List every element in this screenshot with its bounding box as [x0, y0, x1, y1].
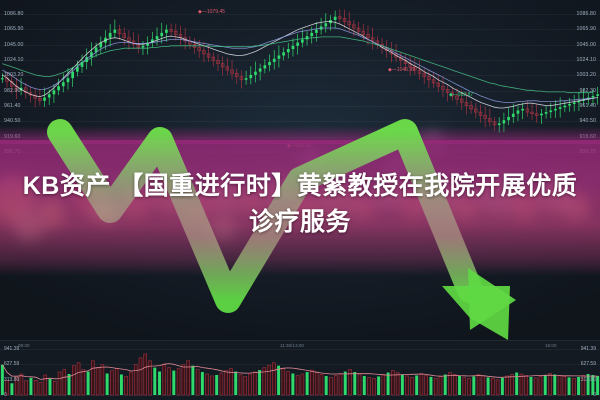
volume-bar	[87, 372, 90, 395]
volume-bar	[77, 363, 80, 395]
candle-body	[296, 43, 299, 46]
volume-axis-tick: 0	[4, 392, 7, 398]
volume-bar	[120, 374, 123, 395]
candle-body	[310, 33, 313, 36]
volume-bar	[453, 374, 456, 395]
volume-bar	[596, 376, 599, 395]
volume-bar	[372, 378, 375, 395]
volume-bar	[491, 378, 494, 395]
price-axis-tick: 1065.90	[577, 26, 596, 32]
volume-axis-tick: 627.59	[4, 361, 19, 367]
volume-bar	[444, 374, 447, 395]
candle-body	[71, 72, 74, 78]
volume-bar	[96, 368, 99, 395]
volume-bar	[258, 370, 261, 395]
volume-bar	[129, 372, 132, 395]
volume-bar	[577, 377, 580, 395]
volume-bar	[477, 374, 480, 395]
volume-bar	[339, 373, 342, 395]
volume-axis-tick: 941.39	[4, 346, 19, 352]
volume-bar	[382, 374, 385, 395]
volume-bar	[472, 376, 475, 395]
volume-axis-tick: 0	[593, 392, 596, 398]
volume-bar	[158, 372, 161, 395]
volume-bar	[496, 380, 499, 395]
volume-bar	[329, 377, 332, 395]
volume-bar	[125, 376, 128, 395]
volume-bar	[282, 369, 285, 395]
volume-bar	[515, 373, 518, 395]
volume-bar	[249, 374, 252, 395]
volume-bar	[301, 374, 304, 395]
volume-bar	[482, 376, 485, 395]
candle-body	[245, 78, 248, 80]
candle-body	[278, 56, 281, 59]
volume-bar	[82, 370, 85, 395]
page-title: KB资产 【国重进行时】黄絮教授在我院开展优质 诊疗服务	[0, 168, 600, 240]
candle-body	[43, 98, 46, 101]
volume-bar	[225, 371, 228, 395]
volume-bar	[572, 378, 575, 395]
price-axis-tick: 1065.90	[4, 26, 23, 32]
volume-axis-tick: 627.59	[581, 361, 596, 367]
volume-bar	[358, 374, 361, 395]
volume-bar	[553, 374, 556, 395]
volume-bar	[510, 374, 513, 395]
volume-bar	[420, 373, 423, 395]
candle-body	[67, 78, 70, 82]
candle-body	[48, 94, 51, 97]
candle-body	[512, 114, 515, 117]
volume-bar	[539, 376, 542, 395]
candle-body	[57, 86, 60, 90]
volume-bar	[425, 375, 428, 395]
price-axis-tick: 1086.80	[577, 11, 596, 17]
volume-bar	[20, 374, 23, 395]
volume-bar	[387, 373, 390, 395]
candle-body	[540, 114, 543, 116]
candle-body	[324, 23, 327, 26]
volume-bar	[306, 372, 309, 395]
volume-bar	[110, 371, 113, 395]
price-axis-tick: 961.40	[4, 103, 20, 109]
volume-bar	[396, 373, 399, 395]
candle-body	[62, 82, 65, 86]
volume-bar	[177, 369, 180, 395]
volume-bar	[191, 366, 194, 395]
volume-bar	[196, 370, 199, 395]
candle-body	[287, 49, 290, 52]
volume-bar	[10, 383, 13, 395]
volume-bar	[368, 377, 371, 395]
volume-bar	[520, 374, 523, 395]
candle-body	[563, 106, 566, 108]
volume-bar	[187, 361, 190, 395]
price-axis-tick: 1045.00	[4, 42, 23, 48]
volume-bar	[434, 378, 437, 395]
candle-body	[109, 33, 112, 38]
volume-bar	[153, 368, 156, 395]
price-axis-tick: 982.30	[580, 88, 596, 94]
volume-bar	[439, 376, 442, 395]
candle-body	[273, 59, 276, 62]
price-axis-tick: 1086.80	[4, 11, 23, 17]
volume-bar	[501, 378, 504, 395]
volume-bar	[558, 375, 561, 395]
time-axis-tick: 15:00	[545, 343, 557, 348]
volume-bar	[325, 376, 328, 395]
volume-bar	[29, 378, 32, 395]
volume-bar	[310, 370, 313, 395]
candle-body	[263, 65, 266, 68]
volume-bar	[534, 378, 537, 395]
time-axis-tick: 11:30/13:00	[280, 343, 304, 348]
volume-bar	[253, 372, 256, 395]
volume-bar	[182, 365, 185, 395]
volume-bar	[549, 373, 552, 395]
volume-bar	[525, 375, 528, 395]
volume-bar	[144, 354, 147, 395]
volume-bar	[458, 376, 461, 395]
volume-bar	[353, 372, 356, 395]
price-axis-tick: 1024.10	[577, 57, 596, 63]
volume-bar	[58, 372, 61, 395]
candle-body	[249, 75, 252, 78]
volume-bar	[215, 375, 218, 395]
volume-bar	[201, 372, 204, 395]
volume-bar	[106, 373, 109, 395]
candle-body	[517, 110, 520, 113]
price-axis-tick: 1045.00	[577, 42, 596, 48]
volume-bar	[49, 379, 52, 395]
price-axis-tick: 961.40	[580, 103, 596, 109]
volume-bar	[268, 365, 271, 395]
volume-bar	[91, 361, 94, 395]
candle-body	[573, 102, 576, 104]
candle-body	[282, 52, 285, 55]
volume-bar	[277, 366, 280, 395]
volume-bar	[320, 374, 323, 395]
article-banner: 1086.801065.901045.001024.101003.20982.3…	[0, 0, 600, 400]
candle-body	[568, 104, 571, 106]
candle-body	[559, 107, 562, 109]
candle-body	[554, 109, 557, 111]
volume-bar	[72, 366, 75, 395]
volume-bar	[296, 375, 299, 395]
price-annotation: ◆—1046.99	[388, 67, 415, 73]
volume-bar	[134, 365, 137, 395]
volume-bar	[239, 374, 242, 395]
candle-body	[142, 46, 145, 48]
price-annotation: ◆—1079.45	[198, 9, 225, 15]
candle-body	[315, 30, 318, 33]
volume-bar	[210, 376, 213, 395]
volume-bars	[0, 341, 600, 400]
volume-bar	[487, 377, 490, 395]
volume-bar	[568, 377, 571, 395]
volume-bar	[234, 372, 237, 395]
headline-line-1: KB资产 【国重进行时】黄絮教授在我院开展优质	[23, 172, 578, 200]
volume-bar	[272, 363, 275, 395]
candle-body	[53, 90, 56, 94]
candle-body	[254, 72, 257, 75]
volume-bar	[415, 375, 418, 395]
volume-bar	[410, 377, 413, 395]
volume-bar	[463, 377, 466, 395]
volume-bar	[101, 365, 104, 395]
volume-bar	[115, 369, 118, 395]
candle-body	[301, 39, 304, 42]
candle-body	[160, 33, 163, 36]
volume-bar	[334, 375, 337, 395]
candle-body	[165, 30, 168, 33]
volume-bar	[401, 374, 404, 395]
price-axis-tick: 982.30	[4, 88, 20, 94]
candle-body	[259, 68, 262, 71]
candle-body	[156, 36, 159, 39]
volume-bar	[139, 358, 142, 395]
candle-body	[113, 30, 116, 33]
volume-bar	[315, 373, 318, 395]
volume-bar	[168, 368, 171, 395]
volume-bar	[244, 376, 247, 395]
volume-bar	[53, 381, 56, 395]
volume-bar	[44, 375, 47, 395]
candle-body	[549, 110, 552, 112]
price-axis-tick: 1024.10	[4, 57, 23, 63]
volume-bar	[172, 371, 175, 395]
volume-bar	[363, 376, 366, 395]
time-axis-tick: 09:30	[18, 343, 30, 348]
volume-bar	[39, 382, 42, 395]
volume-bar	[563, 376, 566, 395]
candle-body	[268, 62, 271, 65]
volume-bar	[34, 380, 37, 395]
volume-bar	[406, 376, 409, 395]
candle-body	[545, 112, 548, 114]
headline-line-2: 诊疗服务	[0, 204, 600, 240]
candle-body	[596, 94, 599, 96]
volume-bar	[468, 378, 471, 395]
volume-bar	[287, 372, 290, 395]
volume-axis-tick: 313.80	[581, 377, 596, 383]
volume-bar	[429, 377, 432, 395]
volume-bar	[291, 373, 294, 395]
volume-bar	[63, 370, 66, 395]
volume-bar	[25, 381, 28, 395]
volume-bar	[506, 376, 509, 395]
volume-bar	[206, 374, 209, 395]
volume-bar	[220, 373, 223, 395]
volume-axis-tick: 313.80	[4, 377, 19, 383]
volume-bar	[344, 372, 347, 395]
price-axis-tick: 1003.20	[577, 72, 596, 78]
volume-bar	[163, 365, 166, 395]
candle-body	[592, 96, 595, 98]
candle-body	[292, 46, 295, 49]
volume-bar	[377, 376, 380, 395]
candle-body	[334, 17, 337, 20]
volume-bar	[529, 377, 532, 395]
volume-bar	[544, 375, 547, 395]
volume-bar	[391, 371, 394, 395]
volume-chart-panel: 941.39627.59313.800 941.39627.59313.800 …	[0, 340, 600, 400]
candle-body	[521, 109, 524, 111]
price-axis-tick: 1003.20	[4, 72, 23, 78]
price-annotation: ◆—953.87	[449, 92, 473, 98]
volume-axis-tick: 941.39	[581, 346, 596, 352]
